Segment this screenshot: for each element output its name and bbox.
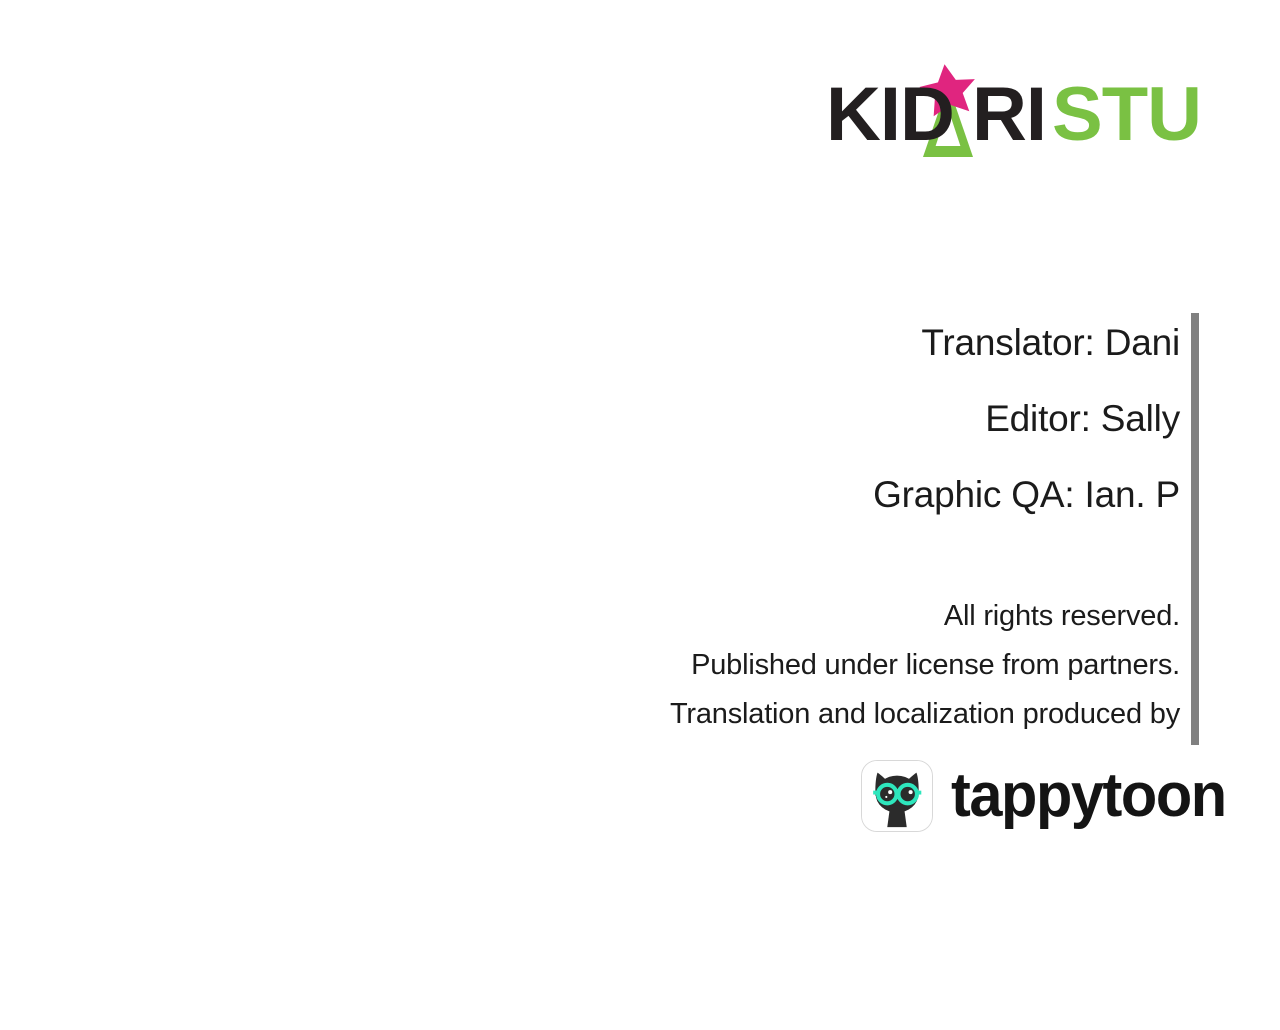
rights-line-published-under-license: Published under license from partners. bbox=[520, 641, 1180, 690]
credits-page: KID RI STUDIO Translator: Dani Editor: S… bbox=[0, 0, 1280, 1030]
credit-editor: Editor: Sally bbox=[560, 381, 1180, 457]
tappytoon-wordmark: tappytoon bbox=[951, 765, 1226, 827]
kidari-word-kid: KID bbox=[826, 72, 954, 157]
tappytoon-logo: tappytoon bbox=[861, 760, 1237, 832]
rights-line-translation-produced-by: Translation and localization produced by bbox=[520, 690, 1180, 739]
vertical-divider-bar bbox=[1191, 313, 1199, 745]
cat-with-glasses-icon bbox=[861, 760, 933, 832]
credit-graphic-qa: Graphic QA: Ian. P bbox=[560, 457, 1180, 533]
rights-notice: All rights reserved. Published under lic… bbox=[520, 592, 1180, 739]
credit-translator: Translator: Dani bbox=[560, 305, 1180, 381]
kidari-studio-logo: KID RI STUDIO bbox=[826, 62, 1198, 162]
credits-list: Translator: Dani Editor: Sally Graphic Q… bbox=[560, 305, 1180, 533]
kidari-word-ri: RI bbox=[972, 72, 1046, 157]
kidari-word-studio: STUDIO bbox=[1052, 72, 1198, 157]
rights-line-all-rights: All rights reserved. bbox=[520, 592, 1180, 641]
